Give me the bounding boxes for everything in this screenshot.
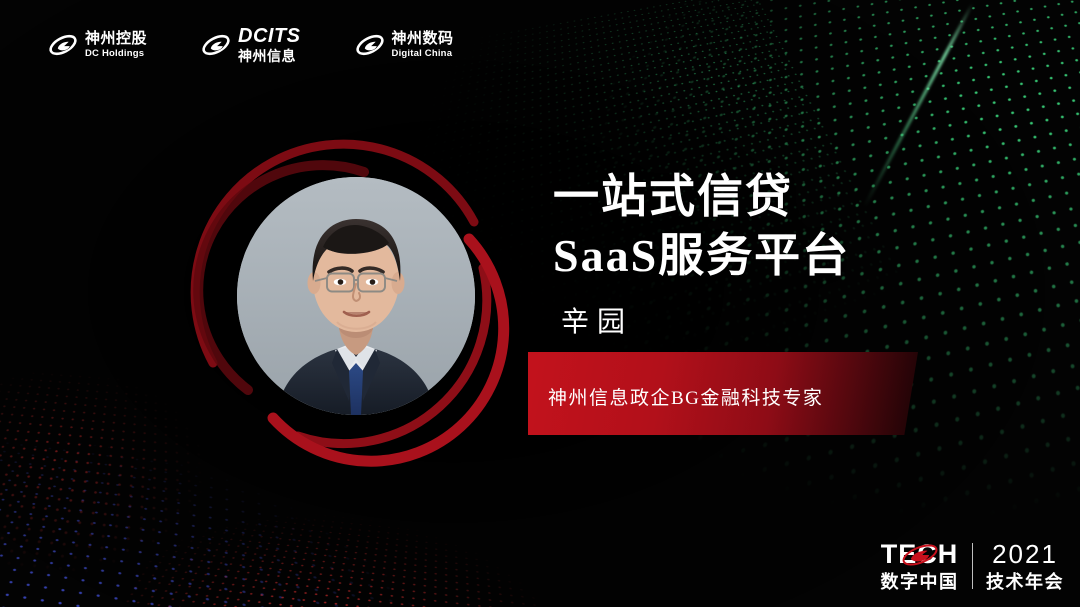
event-logo-brand-cn: 数字中国	[881, 573, 959, 591]
event-logo-brand: TECH 数字中国	[881, 541, 959, 591]
title-line-2: SaaS服务平台	[553, 227, 850, 286]
event-logo-subtitle: 技术年会	[986, 573, 1064, 591]
logo-digital-china-cn: 神州数码	[392, 31, 454, 46]
presentation-slide: 神州控股 DC Holdings DCITS 神州信息	[0, 0, 1080, 607]
logo-dc-holdings-text: 神州控股 DC Holdings	[85, 31, 147, 59]
title-line-1: 一站式信贷	[553, 168, 850, 227]
corporate-logo-bar: 神州控股 DC Holdings DCITS 神州信息	[48, 26, 454, 63]
logo-dc-holdings: 神州控股 DC Holdings	[48, 30, 147, 60]
logo-dcits: DCITS 神州信息	[201, 26, 301, 63]
light-streak-decoration	[863, 3, 974, 207]
vignette-overlay	[0, 0, 1080, 607]
logo-digital-china-text: 神州数码 Digital China	[392, 31, 454, 59]
logo-dcits-cn: 神州信息	[238, 49, 301, 63]
event-logo-tech-wordmark: TECH	[881, 539, 959, 569]
logo-digital-china-en: Digital China	[392, 49, 454, 59]
event-logo: TECH 数字中国 2021 技术年会	[881, 541, 1065, 591]
red-dot-matrix-background	[61, 460, 651, 607]
event-logo-year: 2021	[992, 541, 1058, 567]
event-logo-tech-wordmark-wrap: TECH	[881, 541, 959, 568]
speaker-headshot-photo	[237, 177, 475, 415]
speaker-portrait	[178, 118, 534, 474]
speaker-name: 辛园	[561, 300, 633, 340]
logo-dcits-wordmark: DCITS	[238, 26, 301, 46]
logo-dc-holdings-en: DC Holdings	[85, 49, 147, 59]
slide-title: 一站式信贷 SaaS服务平台	[553, 168, 850, 286]
logo-dc-holdings-cn: 神州控股	[85, 31, 147, 46]
event-logo-edition: 2021 技术年会	[986, 541, 1064, 591]
event-logo-divider	[972, 543, 974, 589]
dc-swoosh-logo-icon	[201, 30, 231, 60]
dc-swoosh-logo-icon	[355, 30, 385, 60]
speaker-role-text: 神州信息政企BG金融科技专家	[548, 383, 823, 410]
logo-dcits-text: DCITS 神州信息	[238, 26, 301, 63]
dc-swoosh-logo-icon	[48, 30, 78, 60]
logo-digital-china: 神州数码 Digital China	[355, 30, 454, 60]
